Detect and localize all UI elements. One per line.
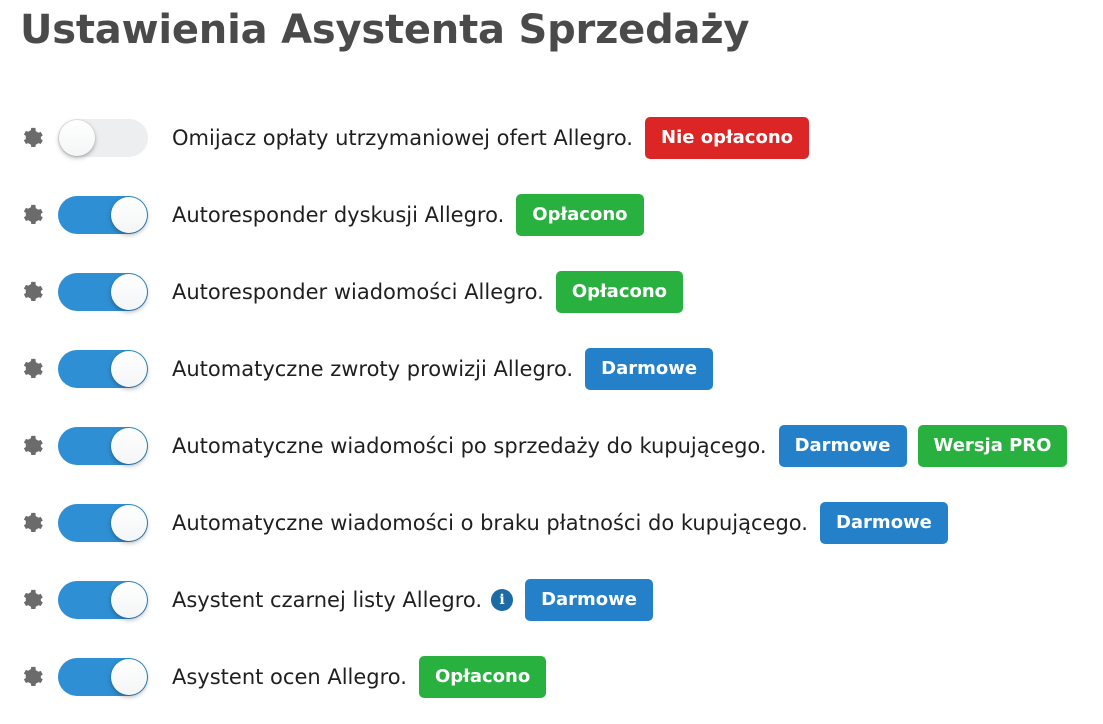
status-badge[interactable]: Darmowe bbox=[525, 579, 653, 621]
gear-icon[interactable] bbox=[22, 280, 46, 304]
settings-row: Automatyczne wiadomości po sprzedaży do … bbox=[0, 416, 1103, 476]
settings-row-label: Asystent czarnej listy Allegro. bbox=[172, 586, 482, 614]
gear-icon[interactable] bbox=[22, 588, 46, 612]
settings-page: Ustawienia Asystenta Sprzedaży Omijacz o… bbox=[0, 0, 1103, 708]
badge-group: DarmoweWersja PRO bbox=[779, 425, 1068, 467]
settings-row: Autoresponder dyskusji Allegro.Opłacono bbox=[0, 185, 1103, 245]
feature-toggle[interactable] bbox=[58, 273, 148, 311]
status-badge[interactable]: Opłacono bbox=[556, 271, 683, 313]
badge-group: Opłacono bbox=[419, 656, 546, 698]
settings-row: Autoresponder wiadomości Allegro.Opłacon… bbox=[0, 262, 1103, 322]
gear-icon[interactable] bbox=[22, 357, 46, 381]
badge-group: Opłacono bbox=[556, 271, 683, 313]
toggle-knob bbox=[111, 582, 147, 618]
status-badge[interactable]: Wersja PRO bbox=[918, 425, 1068, 467]
badge-group: Darmowe bbox=[585, 348, 713, 390]
page-title: Ustawienia Asystenta Sprzedaży bbox=[0, 0, 1103, 54]
badge-group: Darmowe bbox=[820, 502, 948, 544]
toggle-knob bbox=[59, 120, 95, 156]
gear-icon[interactable] bbox=[22, 665, 46, 689]
feature-toggle[interactable] bbox=[58, 658, 148, 696]
badge-group: Nie opłacono bbox=[645, 117, 809, 159]
toggle-knob bbox=[111, 351, 147, 387]
toggle-knob bbox=[111, 274, 147, 310]
settings-row-label: Omijacz opłaty utrzymaniowej ofert Alleg… bbox=[172, 124, 633, 152]
toggle-knob bbox=[111, 505, 147, 541]
gear-icon[interactable] bbox=[22, 434, 46, 458]
info-icon[interactable]: i bbox=[491, 589, 513, 611]
feature-toggle[interactable] bbox=[58, 427, 148, 465]
settings-row: Automatyczne zwroty prowizji Allegro.Dar… bbox=[0, 339, 1103, 399]
feature-toggle[interactable] bbox=[58, 581, 148, 619]
badge-group: Darmowe bbox=[525, 579, 653, 621]
status-badge[interactable]: Nie opłacono bbox=[645, 117, 809, 159]
gear-icon[interactable] bbox=[22, 126, 46, 150]
settings-row: Automatyczne wiadomości o braku płatnośc… bbox=[0, 493, 1103, 553]
status-badge[interactable]: Darmowe bbox=[779, 425, 907, 467]
feature-toggle[interactable] bbox=[58, 196, 148, 234]
feature-toggle[interactable] bbox=[58, 504, 148, 542]
gear-icon[interactable] bbox=[22, 511, 46, 535]
settings-row-label: Automatyczne zwroty prowizji Allegro. bbox=[172, 355, 573, 383]
gear-icon[interactable] bbox=[22, 203, 46, 227]
settings-row: Asystent ocen Allegro.Opłacono bbox=[0, 647, 1103, 707]
toggle-knob bbox=[111, 197, 147, 233]
toggle-knob bbox=[111, 659, 147, 695]
settings-row: Omijacz opłaty utrzymaniowej ofert Alleg… bbox=[0, 108, 1103, 168]
status-badge[interactable]: Darmowe bbox=[820, 502, 948, 544]
settings-row: Asystent czarnej listy Allegro.iDarmowe bbox=[0, 570, 1103, 630]
settings-row-label: Automatyczne wiadomości o braku płatnośc… bbox=[172, 509, 808, 537]
settings-row-label: Asystent ocen Allegro. bbox=[172, 663, 407, 691]
feature-toggle[interactable] bbox=[58, 350, 148, 388]
toggle-knob bbox=[111, 428, 147, 464]
status-badge[interactable]: Opłacono bbox=[516, 194, 643, 236]
status-badge[interactable]: Opłacono bbox=[419, 656, 546, 698]
settings-row-label: Autoresponder dyskusji Allegro. bbox=[172, 201, 504, 229]
badge-group: Opłacono bbox=[516, 194, 643, 236]
settings-row-label: Automatyczne wiadomości po sprzedaży do … bbox=[172, 432, 767, 460]
status-badge[interactable]: Darmowe bbox=[585, 348, 713, 390]
settings-row-label: Autoresponder wiadomości Allegro. bbox=[172, 278, 544, 306]
feature-toggle[interactable] bbox=[58, 119, 148, 157]
settings-list: Omijacz opłaty utrzymaniowej ofert Alleg… bbox=[0, 108, 1103, 724]
